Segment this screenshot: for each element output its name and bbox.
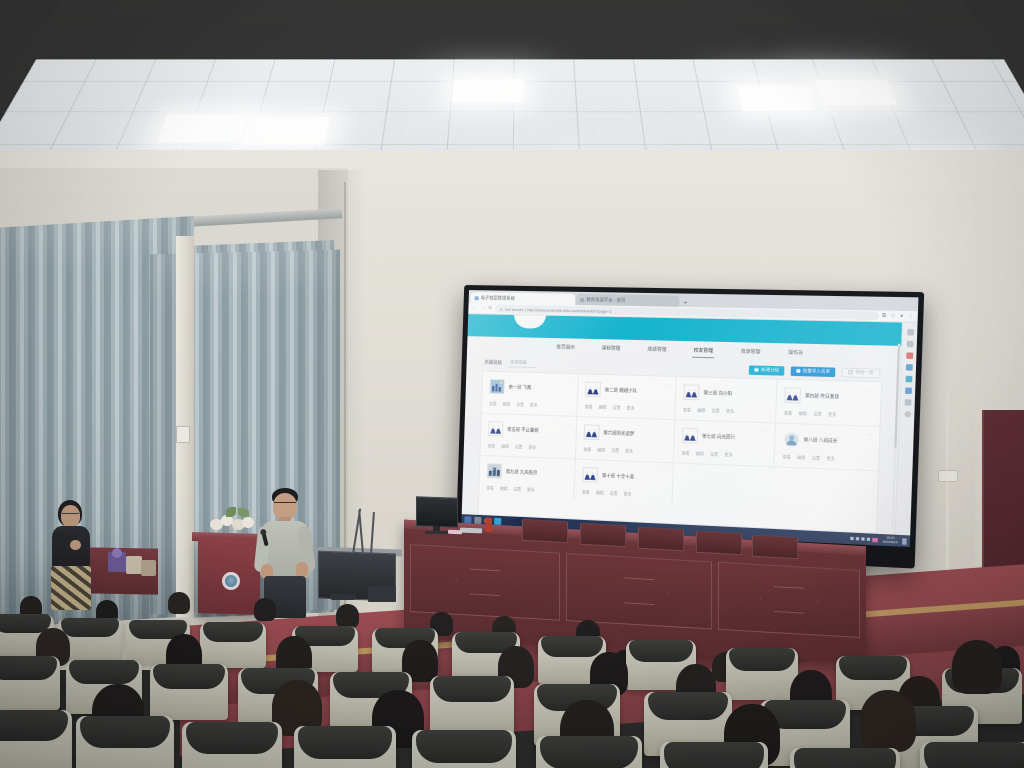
seat-headrest bbox=[153, 664, 225, 689]
podium-emblem bbox=[222, 572, 240, 590]
class-card[interactable]: ··· 第五班 不止暑假 查看 编辑 bbox=[480, 414, 577, 460]
card-title: 第九班 九天揽月 bbox=[506, 469, 538, 476]
card-title: 第二班 越越小队 bbox=[605, 387, 637, 393]
profile-icon[interactable]: ● bbox=[900, 313, 904, 319]
new-group-button[interactable]: + 新建分组 bbox=[749, 365, 784, 375]
card-grid-empty-cell bbox=[773, 467, 878, 514]
download-icon[interactable] bbox=[905, 387, 912, 394]
taskbar-clock[interactable]: 15:23 2023/8/15 bbox=[880, 536, 900, 544]
input-method-icon[interactable] bbox=[856, 537, 859, 540]
cable-coil bbox=[330, 594, 356, 600]
class-card[interactable]: ··· 第七班 向光而行 查看 编辑 bbox=[674, 420, 776, 467]
card-menu-icon[interactable]: ··· bbox=[662, 425, 668, 430]
card-menu-icon[interactable]: ··· bbox=[663, 382, 669, 387]
nav-item-1[interactable]: 课程管理 bbox=[600, 342, 621, 355]
card-menu-icon[interactable]: ··· bbox=[565, 379, 571, 384]
forward-icon[interactable]: → bbox=[480, 305, 485, 311]
audience-head bbox=[254, 598, 276, 621]
ceiling-light bbox=[452, 79, 523, 102]
favicon-icon bbox=[580, 297, 584, 301]
card-action-settings[interactable]: 设置 bbox=[610, 492, 618, 497]
class-card[interactable]: ··· 第十班 十全十美 查看 编辑 bbox=[574, 460, 673, 506]
show-desktop-button[interactable] bbox=[902, 538, 907, 545]
card-header: 第六班阳光追梦 bbox=[584, 424, 667, 442]
card-action-edit[interactable]: 编辑 bbox=[597, 448, 605, 453]
card-action-more[interactable]: 更多 bbox=[527, 488, 535, 493]
card-actions[interactable]: 查看 编辑 设置 更多 bbox=[585, 405, 668, 413]
photo-thumb-icon bbox=[489, 379, 504, 395]
desk-nameplate bbox=[448, 530, 462, 534]
browser-viewport: 首页展示 课程管理 成绩管理 校友管理 资源管理 操作员 所属班级 全部班级 bbox=[462, 314, 918, 535]
photo-thumb-icon bbox=[487, 463, 502, 479]
card-menu-icon[interactable]: ··· bbox=[764, 385, 770, 390]
seat-headrest bbox=[794, 748, 895, 768]
mountain-thumb-icon bbox=[582, 467, 598, 483]
card-menu-icon[interactable]: ··· bbox=[564, 422, 570, 427]
dots-icon[interactable] bbox=[904, 399, 911, 406]
browser-toolbar-icons[interactable]: ⧉ ☆ ● ⋮ bbox=[882, 313, 913, 320]
card-title: 第一班 飞鹰 bbox=[509, 384, 532, 390]
seat bbox=[660, 742, 768, 768]
card-action-edit[interactable]: 编辑 bbox=[500, 487, 508, 492]
card-title: 第六班阳光追梦 bbox=[603, 430, 634, 437]
card-actions[interactable]: 查看 编辑 设置 更多 bbox=[681, 451, 766, 459]
seat-headrest bbox=[203, 622, 264, 642]
ceiling-light bbox=[243, 117, 331, 145]
card-action-settings[interactable]: 设置 bbox=[515, 445, 523, 450]
card-actions[interactable]: 查看 编辑 设置 更多 bbox=[784, 411, 872, 419]
woman-glasses bbox=[62, 513, 79, 516]
card-action-settings[interactable]: 设置 bbox=[812, 456, 820, 462]
new-group-button-label: 新建分组 bbox=[761, 367, 779, 374]
audience-head bbox=[860, 690, 916, 752]
card-actions[interactable]: 查看 编辑 设置 更多 bbox=[489, 402, 570, 410]
seat-headrest bbox=[186, 722, 278, 754]
mountain-thumb-icon bbox=[488, 421, 503, 437]
card-header: 第十班 十全十美 bbox=[582, 467, 665, 486]
import-list-button[interactable]: ✓ 批量导入名单 bbox=[791, 366, 836, 377]
seat-headrest bbox=[69, 660, 139, 684]
card-action-view[interactable]: 查看 bbox=[489, 402, 497, 407]
seat-headrest bbox=[664, 742, 763, 768]
wall-conduit bbox=[946, 390, 949, 600]
nav-item-2[interactable]: 成绩管理 bbox=[646, 343, 668, 356]
seat-headrest bbox=[648, 692, 729, 720]
seat bbox=[790, 748, 900, 768]
seat-headrest bbox=[0, 656, 57, 680]
nav-item-0[interactable]: 首页展示 bbox=[555, 341, 576, 354]
card-grid-empty-cell bbox=[672, 463, 774, 510]
seat-headrest bbox=[839, 656, 907, 680]
mountain-thumb-icon bbox=[585, 382, 601, 398]
card-action-view[interactable]: 查看 bbox=[683, 408, 691, 413]
card-header: 第三班 向小阳 bbox=[683, 384, 768, 402]
card-actions[interactable]: 查看 编辑 设置 更多 bbox=[486, 486, 566, 495]
seat-headrest bbox=[540, 736, 638, 768]
chart-icon[interactable] bbox=[905, 364, 912, 371]
card-title: 第八班 八班成长 bbox=[803, 437, 837, 444]
star-icon[interactable]: ☆ bbox=[890, 313, 895, 319]
display-screen[interactable]: 电子档案管理系统 教育资源平台 - 首页 + ← → ↻ bbox=[461, 290, 918, 547]
card-action-settings[interactable]: 设置 bbox=[813, 412, 821, 418]
stage-chair bbox=[638, 527, 684, 552]
card-header: 第七班 向光而行 bbox=[682, 428, 767, 447]
card-action-view[interactable]: 查看 bbox=[582, 490, 590, 495]
seat bbox=[430, 676, 514, 736]
card-menu-icon[interactable]: ··· bbox=[868, 387, 874, 392]
address-bar-url: not secure | http://www.example.edu.cn/a… bbox=[505, 306, 612, 313]
table-panel bbox=[718, 562, 860, 638]
check-icon: ✓ bbox=[796, 369, 800, 373]
seat bbox=[182, 722, 282, 768]
card-action-settings[interactable]: 设置 bbox=[710, 452, 718, 457]
export-button[interactable]: 导出一览 bbox=[842, 367, 881, 378]
monitor-base bbox=[425, 531, 449, 534]
seat-headrest bbox=[433, 676, 510, 702]
card-action-more[interactable]: 更多 bbox=[625, 449, 633, 454]
seat-headrest bbox=[416, 730, 512, 763]
toolbar-spacer bbox=[543, 364, 743, 369]
reload-icon[interactable]: ↻ bbox=[488, 305, 492, 311]
card-title: 第四班 昨日重现 bbox=[805, 393, 839, 400]
not-secure-icon: ⚠ bbox=[499, 306, 503, 311]
card-action-more[interactable]: 更多 bbox=[624, 492, 632, 497]
seat-headrest bbox=[629, 640, 693, 662]
gift-box bbox=[126, 556, 142, 574]
ceiling-light bbox=[736, 86, 816, 111]
table-panel bbox=[410, 544, 560, 621]
card-action-view[interactable]: 查看 bbox=[488, 444, 496, 449]
web-app: 首页展示 课程管理 成绩管理 校友管理 资源管理 操作员 所属班级 全部班级 bbox=[462, 314, 902, 535]
circle-thumb-icon bbox=[783, 431, 800, 447]
card-header: 第二班 越越小队 bbox=[585, 382, 668, 400]
mountain-thumb-icon bbox=[584, 424, 600, 440]
equipment-case bbox=[368, 586, 396, 602]
woman-head bbox=[61, 505, 80, 527]
seat bbox=[76, 716, 174, 768]
seat-headrest bbox=[729, 648, 795, 671]
wall-outlet[interactable] bbox=[938, 470, 958, 482]
menu-icon[interactable]: ⋮ bbox=[908, 313, 914, 319]
presenter-glasses bbox=[274, 502, 296, 506]
standing-woman bbox=[44, 500, 98, 610]
card-header: 第一班 飞鹰 bbox=[489, 379, 570, 397]
audience-head bbox=[336, 604, 359, 628]
card-action-more[interactable]: 更多 bbox=[627, 406, 635, 411]
class-card[interactable]: ··· 第一班 飞鹰 查看 编辑 bbox=[482, 372, 579, 417]
seat bbox=[0, 710, 72, 768]
card-actions[interactable]: 查看 编辑 设置 更多 bbox=[583, 448, 666, 456]
import-list-button-label: 批量导入名单 bbox=[803, 368, 831, 375]
ceiling-light bbox=[816, 80, 898, 104]
card-action-view[interactable]: 查看 bbox=[486, 486, 494, 491]
woman-hand bbox=[70, 540, 81, 550]
tab-label: 教育资源平台 - 首页 bbox=[586, 297, 625, 304]
note-icon[interactable] bbox=[906, 352, 913, 359]
gift-box bbox=[141, 560, 156, 576]
card-title: 第五班 不止暑假 bbox=[507, 426, 539, 433]
seat-headrest bbox=[541, 636, 604, 657]
auditorium-scene: 电子档案管理系统 教育资源平台 - 首页 + ← → ↻ bbox=[0, 0, 1024, 768]
card-title: 第十班 十全十美 bbox=[602, 473, 634, 480]
card-menu-icon[interactable]: ··· bbox=[866, 432, 872, 437]
woman-skirt bbox=[51, 566, 91, 610]
card-action-view[interactable]: 查看 bbox=[782, 455, 790, 461]
mountain-thumb-icon bbox=[784, 387, 801, 403]
class-card[interactable]: ··· 第四班 昨日重现 查看 编辑 bbox=[776, 380, 881, 427]
seat-headrest bbox=[0, 710, 68, 741]
card-action-view[interactable]: 查看 bbox=[681, 451, 689, 456]
card-action-edit[interactable]: 编辑 bbox=[696, 452, 704, 457]
seat bbox=[536, 736, 642, 768]
card-title: 第三班 向小阳 bbox=[703, 390, 732, 396]
card-action-more[interactable]: 更多 bbox=[530, 403, 538, 408]
seat-headrest bbox=[924, 742, 1024, 768]
mountain-thumb-icon bbox=[683, 384, 699, 400]
stage-chair bbox=[522, 519, 568, 544]
filter-label: 所属班级 bbox=[484, 360, 502, 366]
stage-chair bbox=[696, 531, 742, 556]
system-tray[interactable]: 15:23 2023/8/15 bbox=[850, 535, 906, 545]
seat bbox=[150, 664, 228, 720]
card-action-edit[interactable]: 编辑 bbox=[599, 405, 607, 410]
card-menu-icon[interactable]: ··· bbox=[563, 464, 569, 469]
seat-headrest bbox=[61, 618, 120, 637]
audience-head bbox=[168, 592, 190, 614]
export-button-label: 导出一览 bbox=[855, 369, 874, 376]
card-action-edit[interactable]: 编辑 bbox=[503, 402, 511, 407]
volume-icon[interactable] bbox=[862, 537, 865, 540]
back-icon[interactable]: ← bbox=[472, 305, 477, 311]
card-action-settings[interactable]: 设置 bbox=[513, 487, 521, 492]
card-action-more[interactable]: 更多 bbox=[826, 457, 834, 463]
bookmark-icon[interactable] bbox=[907, 329, 914, 336]
card-title: 第七班 向光而行 bbox=[702, 433, 735, 440]
card-action-edit[interactable]: 编辑 bbox=[697, 409, 705, 414]
card-action-edit[interactable]: 编辑 bbox=[798, 412, 806, 417]
mountain-thumb-icon bbox=[682, 428, 698, 444]
desktop-monitor bbox=[416, 496, 458, 527]
panel-diamond-motif bbox=[456, 568, 514, 597]
card-action-more[interactable]: 更多 bbox=[726, 409, 734, 414]
card-header: 第九班 九天揽月 bbox=[487, 463, 568, 481]
foliage bbox=[226, 507, 236, 517]
card-action-edit[interactable]: 编辑 bbox=[596, 491, 604, 496]
card-action-settings[interactable]: 设置 bbox=[613, 406, 621, 411]
card-action-settings[interactable]: 设置 bbox=[711, 409, 719, 414]
panel-diamond-motif bbox=[610, 577, 668, 606]
message-icon[interactable] bbox=[872, 537, 878, 541]
favicon-icon bbox=[475, 296, 479, 300]
card-header: 第五班 不止暑假 bbox=[488, 421, 569, 439]
ceiling-light bbox=[156, 115, 246, 143]
card-actions[interactable]: 查看 编辑 设置 更多 bbox=[683, 408, 768, 416]
clock-date: 2023/8/15 bbox=[882, 540, 897, 544]
target-icon[interactable] bbox=[904, 411, 911, 418]
plus-icon: + bbox=[755, 368, 759, 372]
card-action-view[interactable]: 查看 bbox=[583, 448, 591, 453]
presenter-head bbox=[273, 493, 297, 520]
nav-item-5[interactable]: 操作员 bbox=[787, 346, 804, 359]
nav-item-4[interactable]: 资源管理 bbox=[739, 345, 761, 358]
card-action-settings[interactable]: 设置 bbox=[516, 403, 524, 408]
card-action-settings[interactable]: 设置 bbox=[611, 449, 619, 454]
stage-chair bbox=[580, 523, 626, 548]
desk-item-red bbox=[486, 518, 492, 532]
card-action-more[interactable]: 更多 bbox=[528, 446, 536, 451]
card-actions[interactable]: 查看 编辑 设置 更多 bbox=[488, 444, 569, 452]
gift-ribbon bbox=[112, 548, 122, 558]
card-menu-icon[interactable]: ··· bbox=[762, 428, 768, 433]
extension-icon[interactable]: ⧉ bbox=[882, 313, 886, 319]
desk-keyboard bbox=[460, 528, 482, 534]
card-actions[interactable]: 查看 编辑 设置 更多 bbox=[582, 490, 665, 499]
panel-diamond-motif bbox=[760, 585, 818, 614]
wall-switch-plate[interactable] bbox=[176, 426, 190, 443]
nav-item-3[interactable]: 校友管理 bbox=[692, 344, 714, 357]
seat bbox=[200, 622, 266, 668]
stage-chair bbox=[752, 535, 798, 560]
card-action-more[interactable]: 更多 bbox=[828, 413, 836, 419]
card-action-edit[interactable]: 编辑 bbox=[797, 456, 805, 462]
network-icon[interactable] bbox=[867, 538, 870, 541]
seat bbox=[726, 648, 798, 700]
card-menu-icon[interactable]: ··· bbox=[660, 468, 666, 473]
chevron-up-icon[interactable] bbox=[851, 537, 854, 540]
card-action-more[interactable]: 更多 bbox=[724, 453, 732, 458]
class-card[interactable]: ··· 第六班阳光追梦 查看 编辑 bbox=[576, 417, 675, 463]
class-card-grid[interactable]: ··· 第一班 飞鹰 查看 编辑 bbox=[478, 371, 883, 534]
table-panel bbox=[566, 553, 712, 629]
card-actions[interactable]: 查看 编辑 设置 更多 bbox=[782, 455, 870, 464]
pin-icon[interactable] bbox=[906, 341, 913, 348]
browser-window[interactable]: 电子档案管理系统 教育资源平台 - 首页 + ← → ↻ bbox=[461, 290, 918, 547]
seat bbox=[412, 730, 516, 768]
seat-headrest bbox=[298, 726, 392, 759]
class-card[interactable]: ··· 第九班 九天揽月 查看 编辑 bbox=[479, 456, 576, 501]
seat-headrest bbox=[80, 716, 170, 748]
class-card[interactable]: ··· 第三班 向小阳 查看 编辑 bbox=[675, 377, 777, 424]
class-card[interactable]: ··· 第八班 八班成长 查看 编辑 bbox=[775, 424, 880, 472]
audience-head bbox=[952, 640, 1002, 694]
card-header: 第四班 昨日重现 bbox=[784, 387, 873, 405]
card-action-edit[interactable]: 编辑 bbox=[501, 445, 509, 450]
card-action-view[interactable]: 查看 bbox=[585, 405, 593, 410]
seat bbox=[0, 656, 60, 710]
clock-icon[interactable] bbox=[905, 376, 912, 383]
tab-label: 电子档案管理系统 bbox=[481, 295, 515, 302]
seat bbox=[920, 742, 1024, 768]
square-icon bbox=[849, 370, 854, 374]
card-action-view[interactable]: 查看 bbox=[784, 411, 792, 416]
filter-select[interactable]: 全部班级 bbox=[508, 359, 537, 368]
card-header: 第八班 八班成长 bbox=[783, 431, 872, 450]
class-card[interactable]: ··· 第二班 越越小队 查看 编辑 bbox=[577, 374, 676, 420]
foliage bbox=[238, 508, 249, 517]
seat bbox=[294, 726, 396, 768]
app-logo-notch bbox=[514, 314, 547, 329]
